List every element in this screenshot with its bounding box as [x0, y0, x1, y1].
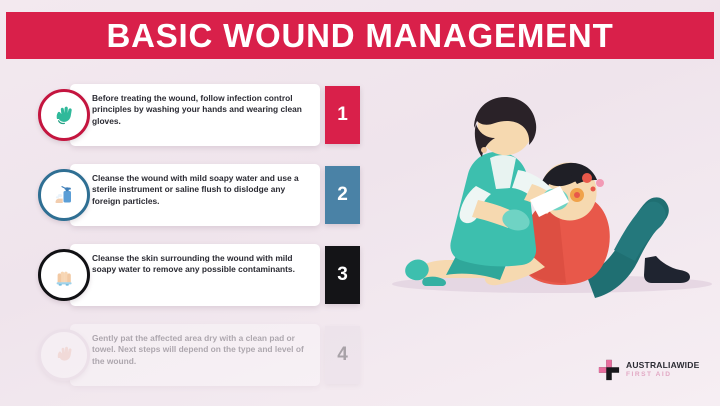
step-row: Gently pat the affected area dry with a …: [0, 324, 380, 386]
infographic-slide: BASIC WOUND MANAGEMENT Before treating t…: [0, 0, 720, 406]
logo-wide: WIDE: [676, 360, 699, 370]
washing-hands-icon: [38, 249, 90, 301]
first-aider-treating-patient-illustration: [372, 78, 720, 318]
drying-pad-icon: [38, 329, 90, 381]
step-text: Gently pat the affected area dry with a …: [92, 333, 310, 367]
step-text: Cleanse the skin surrounding the wound w…: [92, 253, 310, 276]
step-number-badge: 4: [325, 326, 360, 384]
gloved-hands-icon: [38, 89, 90, 141]
step-number: 3: [337, 264, 348, 286]
step-number-badge: 2: [325, 166, 360, 224]
step-card: Cleanse the wound with mild soapy water …: [70, 164, 320, 226]
step-card: Gently pat the affected area dry with a …: [70, 324, 320, 386]
step-number: 2: [337, 184, 348, 206]
step-number: 4: [337, 344, 348, 366]
soap-dispenser-icon: [38, 169, 90, 221]
logo-line-secondary: FIRST AID: [626, 372, 699, 379]
step-row: Cleanse the wound with mild soapy water …: [0, 164, 380, 226]
header-banner: BASIC WOUND MANAGEMENT: [6, 12, 714, 59]
first-aid-cross-icon: [598, 359, 620, 381]
logo-text: AUSTRALIAWIDE FIRST AID: [626, 361, 699, 378]
page-title: BASIC WOUND MANAGEMENT: [106, 17, 613, 55]
step-text: Before treating the wound, follow infect…: [92, 93, 310, 127]
step-number-badge: 1: [325, 86, 360, 144]
steps-list: Before treating the wound, follow infect…: [0, 68, 380, 406]
step-row: Before treating the wound, follow infect…: [0, 84, 380, 146]
step-row: Cleanse the skin surrounding the wound w…: [0, 244, 380, 306]
step-card: Before treating the wound, follow infect…: [70, 84, 320, 146]
logo-line-primary: AUSTRALIAWIDE: [626, 361, 699, 370]
step-number: 1: [337, 104, 348, 126]
step-number-badge: 3: [325, 246, 360, 304]
step-text: Cleanse the wound with mild soapy water …: [92, 173, 310, 207]
logo-australia: AUSTRALIA: [626, 360, 676, 370]
step-card: Cleanse the skin surrounding the wound w…: [70, 244, 320, 306]
brand-logo: AUSTRALIAWIDE FIRST AID: [598, 355, 708, 385]
